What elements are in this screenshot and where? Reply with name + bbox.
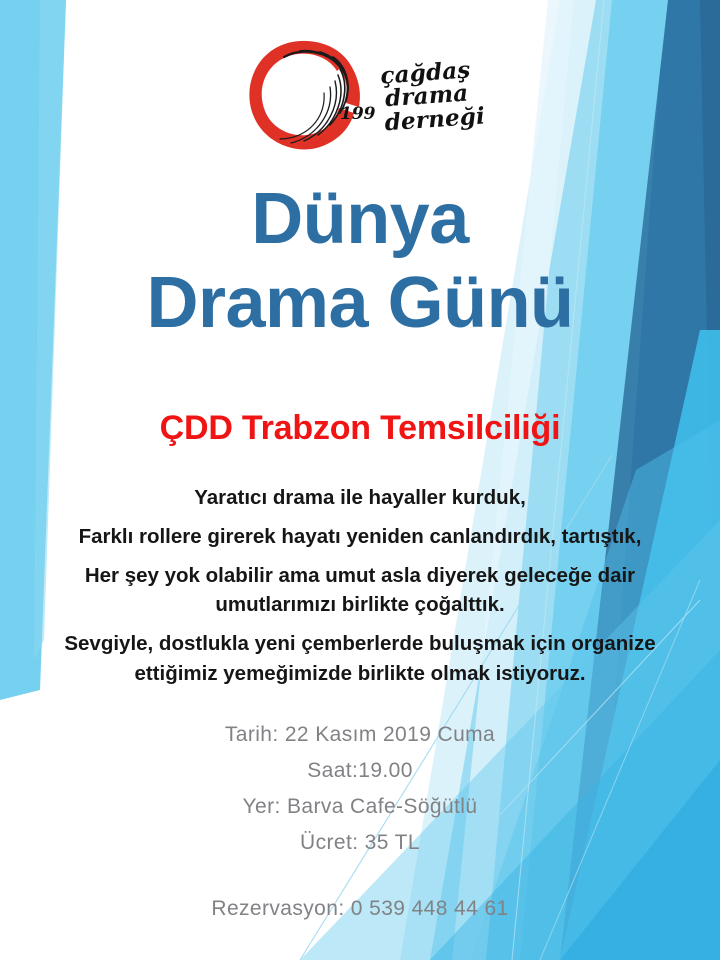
body-paragraph-1: Yaratıcı drama ile hayaller kurduk, <box>34 483 686 512</box>
reservation-phone: Rezervasyon: 0 539 448 44 61 <box>0 897 720 921</box>
body-paragraph-4: Sevgiyle, dostlukla yeni çemberlerde bul… <box>34 629 686 687</box>
poster-content: 1990 çağdaş drama derneği Dünya Drama Gü… <box>0 0 720 960</box>
logo-wordmark: çağdaş drama derneği <box>380 57 486 134</box>
brush-circle-icon: 1990 <box>236 33 376 158</box>
poster-canvas: 1990 çağdaş drama derneği Dünya Drama Gü… <box>0 0 720 960</box>
event-time: Saat:19.00 <box>0 753 720 789</box>
body-copy: Yaratıcı drama ile hayaller kurduk, Fark… <box>34 483 686 688</box>
page-title-line-1: Dünya <box>0 178 720 262</box>
body-paragraph-2: Farklı rollere girerek hayatı yeniden ca… <box>34 522 686 551</box>
page-title-line-2: Drama Günü <box>0 262 720 346</box>
logo: 1990 çağdaş drama derneği <box>0 30 720 160</box>
event-venue: Yer: Barva Cafe-Söğütlü <box>0 789 720 825</box>
event-date: Tarih: 22 Kasım 2019 Cuma <box>0 717 720 753</box>
logo-year: 1990 <box>340 104 376 124</box>
body-paragraph-3: Her şey yok olabilir ama umut asla diyer… <box>34 561 686 619</box>
subtitle: ÇDD Trabzon Temsilciliği <box>0 409 720 448</box>
event-details: Tarih: 22 Kasım 2019 Cuma Saat:19.00 Yer… <box>0 717 720 861</box>
red-arc <box>250 40 355 149</box>
logo-wordmark-line-3: derneği <box>384 104 486 134</box>
page-title: Dünya Drama Günü <box>0 178 720 345</box>
event-price: Ücret: 35 TL <box>0 825 720 861</box>
